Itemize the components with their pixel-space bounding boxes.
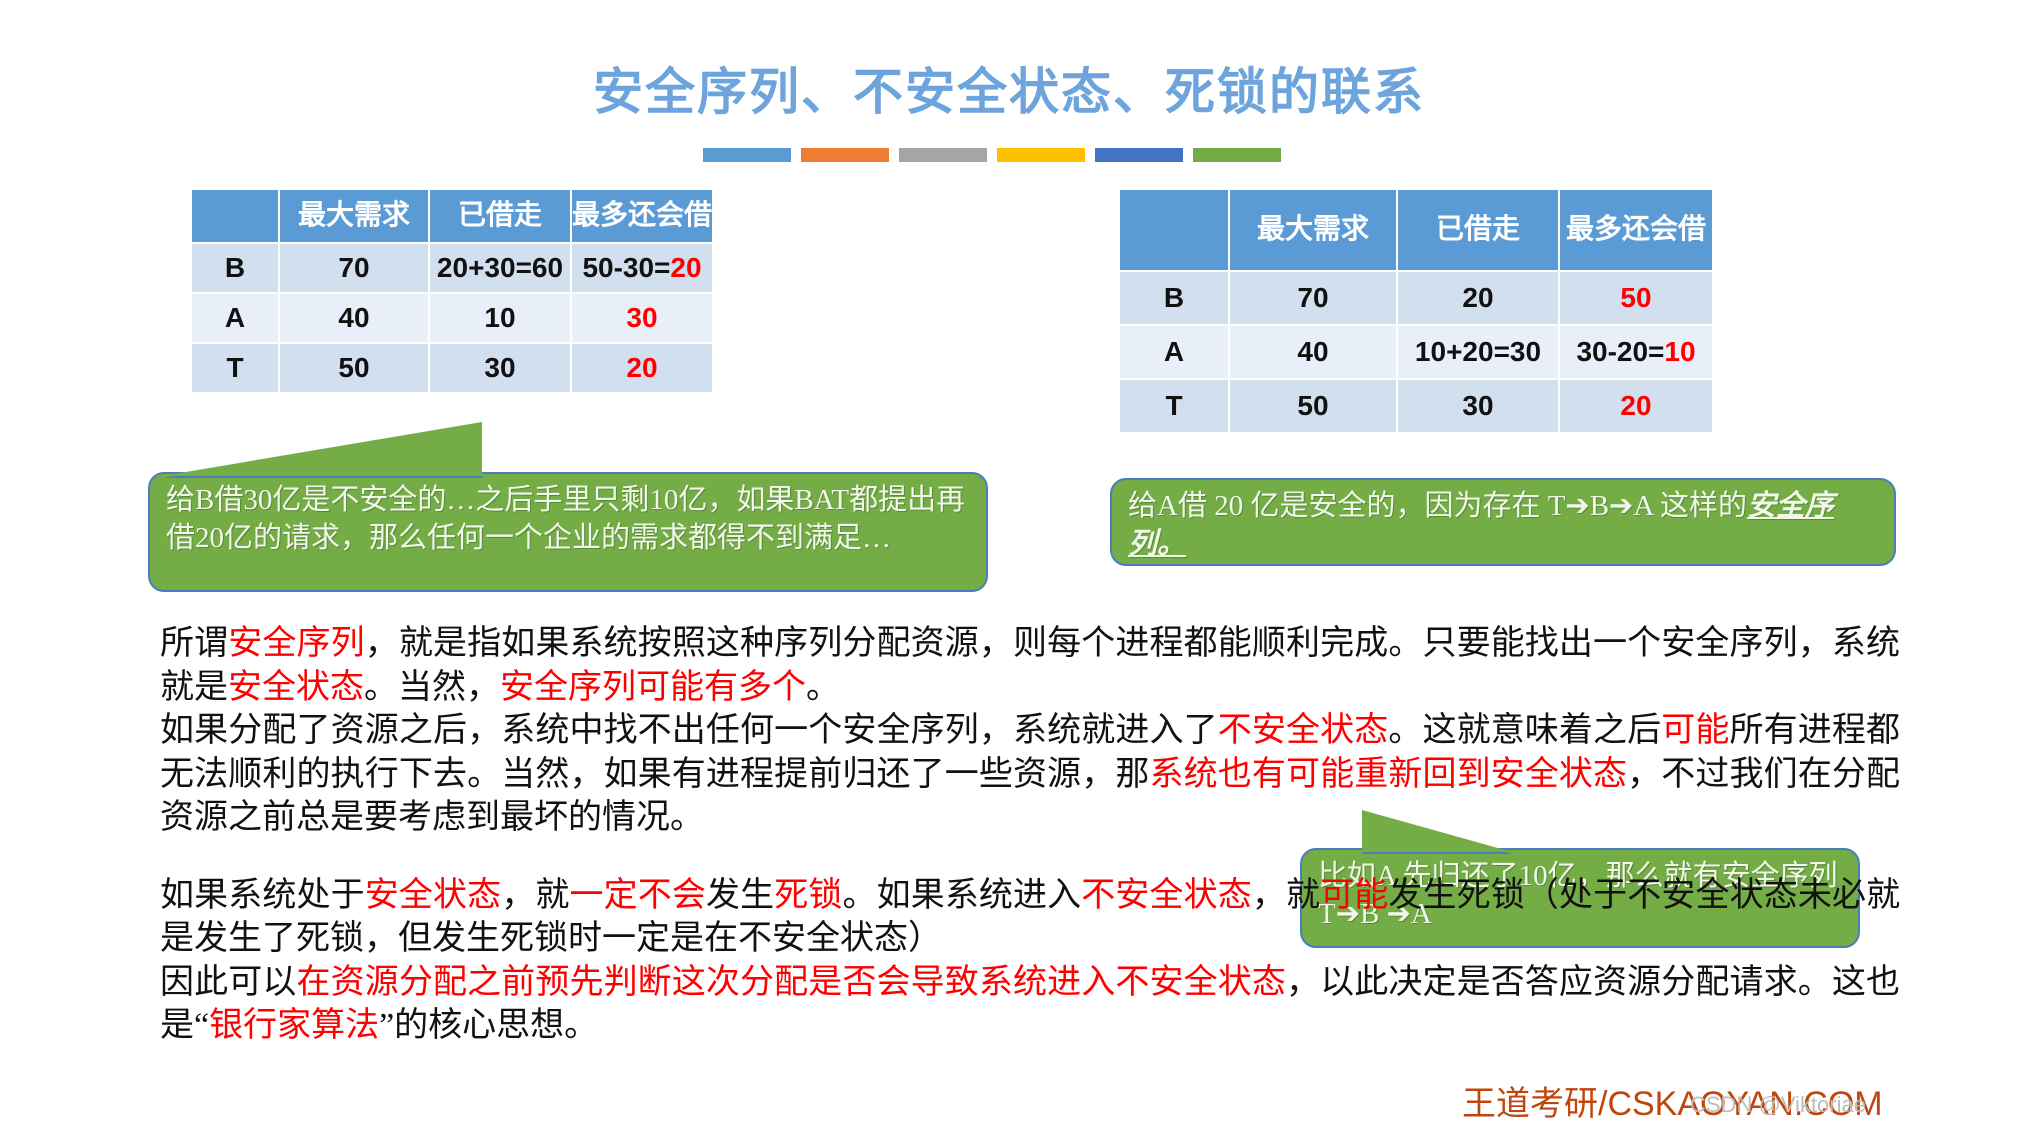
highlight-text: 安全状态 — [228, 669, 364, 706]
cell-max-demand: 50 — [279, 343, 429, 393]
bar-green — [1193, 148, 1281, 162]
plain-text: 因此可以 — [160, 964, 296, 1001]
table-header-cell: 最多还会借 — [571, 189, 713, 243]
cell-remaining: 20 — [571, 343, 713, 393]
highlight-text: 安全序列可能有多个 — [500, 669, 806, 706]
table-header-cell: 最大需求 — [1229, 189, 1397, 271]
plain-text: 。这就意味着之后 — [1388, 712, 1661, 749]
cell-remaining: 50-30=20 — [571, 243, 713, 293]
plain-text: 如果系统处于 — [160, 877, 365, 914]
cell-remaining: 30 — [571, 293, 713, 343]
cell-remaining: 50 — [1559, 271, 1713, 325]
plain-text: 。当然， — [364, 669, 500, 706]
callout-safe-explanation: 给A借 20 亿是安全的，因为存在 T➔B➔A 这样的安全序列。 — [1110, 478, 1896, 566]
highlight-text: 不安全状态 — [1081, 877, 1252, 914]
paragraph-unsafe-state: 如果分配了资源之后，系统中找不出任何一个安全序列，系统就进入了不安全状态。这就意… — [160, 709, 1900, 840]
plain-text: 所谓 — [160, 625, 228, 662]
plain-text: 。 — [806, 669, 840, 706]
body-text: 所谓安全序列，就是指如果系统按照这种序列分配资源，则每个进程都能顺利完成。只要能… — [160, 622, 1900, 1048]
highlight-text: 不安全状态 — [1218, 712, 1389, 749]
plain-text: 发生 — [706, 877, 774, 914]
plain-text: 。如果系统进入 — [842, 877, 1081, 914]
paragraph-safe-sequence: 所谓安全序列，就是指如果系统按照这种序列分配资源，则每个进程都能顺利完成。只要能… — [160, 622, 1900, 709]
table-header-row: 最大需求 已借走 最多还会借 — [191, 189, 713, 243]
bar-orange — [801, 148, 889, 162]
table-row: T 50 30 20 — [1119, 379, 1713, 433]
cell-max-demand: 40 — [1229, 325, 1397, 379]
table-row: B 70 20 50 — [1119, 271, 1713, 325]
bar-navy — [1095, 148, 1183, 162]
highlight-text: 系统也有可能重新回到安全状态 — [1149, 756, 1627, 793]
plain-text: ，就 — [501, 877, 569, 914]
highlight-text: 在资源分配之前预先判断这次分配是否会导致系统进入不安全状态 — [296, 964, 1285, 1001]
page-title: 安全序列、不安全状态、死锁的联系 — [0, 52, 2018, 124]
cell-borrowed: 30 — [1397, 379, 1559, 433]
row-label: A — [1119, 325, 1229, 379]
callout-text: 给A借 20 亿是安全的，因为存在 T➔B➔A 这样的 — [1128, 490, 1747, 522]
cell-borrowed: 20 — [1397, 271, 1559, 325]
cell-borrowed: 10 — [429, 293, 571, 343]
plain-text: 如果分配了资源之后，系统中找不出任何一个安全序列，系统就进入了 — [160, 712, 1218, 749]
table-row: T 50 30 20 — [191, 343, 713, 393]
paragraph-deadlock-relation: 如果系统处于安全状态，就一定不会发生死锁。如果系统进入不安全状态，就可能发生死锁… — [160, 874, 1900, 961]
callout-tail-icon — [162, 422, 482, 476]
callout-unsafe-explanation: 给B借30亿是不安全的…之后手里只剩10亿，如果BAT都提出再借20亿的请求，那… — [148, 472, 988, 592]
bar-gray — [899, 148, 987, 162]
highlight-text: 一定不会 — [569, 877, 705, 914]
table-header-cell: 已借走 — [1397, 189, 1559, 271]
cell-borrowed: 20+30=60 — [429, 243, 571, 293]
highlight-text: 可能 — [1320, 877, 1388, 914]
row-label: T — [1119, 379, 1229, 433]
table-header-cell: 最大需求 — [279, 189, 429, 243]
table-header-row: 最大需求 已借走 最多还会借 — [1119, 189, 1713, 271]
row-label: A — [191, 293, 279, 343]
table-row: A 40 10+20=30 30-20=10 — [1119, 325, 1713, 379]
highlight-text: 可能 — [1661, 712, 1729, 749]
highlight-text: 银行家算法 — [209, 1007, 379, 1044]
plain-text: ”的核心思想。 — [379, 1007, 598, 1044]
bar-blue — [703, 148, 791, 162]
slide-canvas: 安全序列、不安全状态、死锁的联系 最大需求 已借走 最多还会借 B 70 20+… — [0, 0, 2018, 1126]
table-header-cell — [191, 189, 279, 243]
cell-remaining: 20 — [1559, 379, 1713, 433]
table-unsafe-allocation: 最大需求 已借走 最多还会借 B 70 20+30=60 50-30=20 A … — [190, 188, 714, 394]
accent-bar-group — [703, 148, 1281, 162]
highlight-text: 死锁 — [774, 877, 842, 914]
bar-yellow — [997, 148, 1085, 162]
row-label: B — [1119, 271, 1229, 325]
table-row: B 70 20+30=60 50-30=20 — [191, 243, 713, 293]
callout-text: 给B借30亿是不安全的…之后手里只剩10亿，如果BAT都提出再借20亿的请求，那… — [166, 484, 965, 554]
highlight-text: 安全序列 — [228, 625, 364, 662]
cell-borrowed: 30 — [429, 343, 571, 393]
cell-remaining: 30-20=10 — [1559, 325, 1713, 379]
cell-max-demand: 50 — [1229, 379, 1397, 433]
table-header-cell: 最多还会借 — [1559, 189, 1713, 271]
cell-max-demand: 40 — [279, 293, 429, 343]
watermark-csdn: CSDN @Viktoriae — [1690, 1092, 1866, 1118]
row-label: B — [191, 243, 279, 293]
paragraph-bankers-algorithm: 因此可以在资源分配之前预先判断这次分配是否会导致系统进入不安全状态，以此决定是否… — [160, 961, 1900, 1048]
table-header-cell — [1119, 189, 1229, 271]
row-label: T — [191, 343, 279, 393]
table-safe-allocation: 最大需求 已借走 最多还会借 B 70 20 50 A 40 10+20=30 … — [1118, 188, 1714, 434]
table-row: A 40 10 30 — [191, 293, 713, 343]
cell-max-demand: 70 — [279, 243, 429, 293]
table-header-cell: 已借走 — [429, 189, 571, 243]
cell-max-demand: 70 — [1229, 271, 1397, 325]
cell-borrowed: 10+20=30 — [1397, 325, 1559, 379]
plain-text: ，就 — [1252, 877, 1320, 914]
highlight-text: 安全状态 — [365, 877, 501, 914]
